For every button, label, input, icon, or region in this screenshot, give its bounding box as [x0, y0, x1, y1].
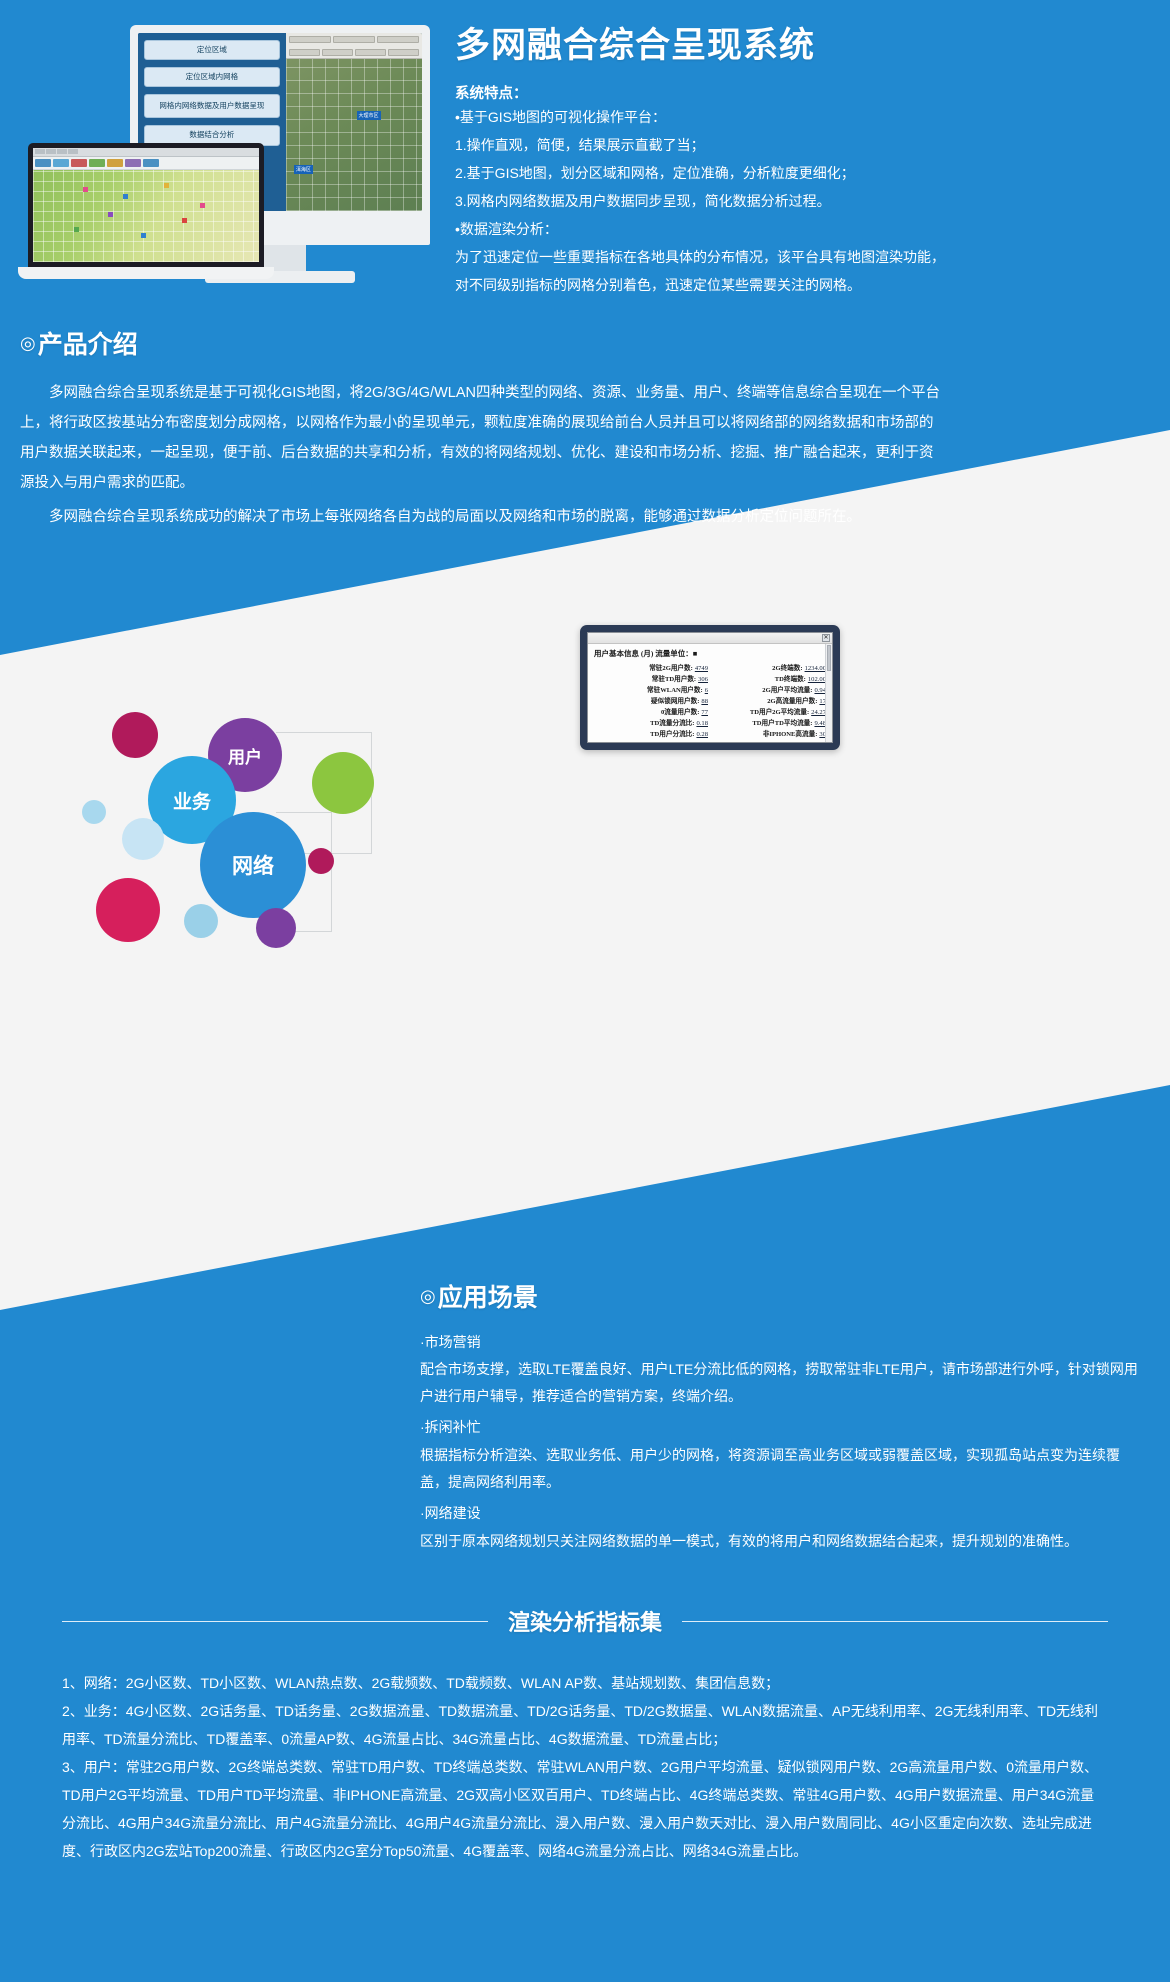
indicator-set-heading-row: 渲染分析指标集 — [0, 1605, 1170, 1637]
dialog-frame: ✕ 用户基本信息 (月) 流量单位：■ 常驻2G用户数:4749 2G终端数:1… — [587, 632, 833, 743]
metric-label: 常驻2G用户数: — [649, 662, 693, 672]
close-icon[interactable]: ✕ — [822, 634, 830, 642]
hero-text-block: 多网融合综合呈现系统 系统特点： •基于GIS地图的可视化操作平台： 1.操作直… — [455, 26, 1145, 298]
bubble-decor-lightblue — [122, 818, 164, 860]
product-intro-section: ◎产品介绍 多网融合综合呈现系统是基于可视化GIS地图，将2G/3G/4G/WL… — [20, 332, 940, 532]
toolbar-button-icon — [143, 159, 159, 167]
map-grid-marker — [182, 218, 187, 223]
metric-value[interactable]: 77 — [701, 709, 708, 716]
map-grid-marker — [123, 194, 128, 199]
metric-label: 非IPHONE高流量: — [763, 728, 818, 738]
hero-feature-line: 3.网格内网络数据及用户数据同步呈现，简化数据分析过程。 — [455, 189, 1145, 215]
metric-label: 常驻TD用户数: — [652, 673, 696, 683]
map-toolbar — [286, 33, 422, 59]
poster-page: 定位区域 定位区域内网格 网格内网络数据及用户数据呈现 数据结合分析 — [0, 0, 1170, 1982]
indicator-set-heading: 渲染分析指标集 — [508, 1605, 662, 1637]
flow-step-2: 网格内网络数据及用户数据呈现 — [144, 94, 280, 118]
metric-row: 常驻WLAN用户数:6 — [594, 684, 708, 694]
scenario-title: ·网络建设 — [420, 1500, 1140, 1527]
metric-label: 2G用户平均流量: — [762, 684, 812, 694]
laptop-map-canvas — [33, 170, 259, 262]
metric-row: TD用户分流比:0.28 — [594, 728, 708, 738]
metric-row: TD用户2G平均流量:24.27 — [712, 706, 826, 716]
toolbar-button-icon — [89, 159, 105, 167]
metric-label: TD流量分流比: — [650, 717, 694, 727]
menu-chip-icon — [35, 149, 45, 154]
gis-map-panel: 大理市区 洱海区 — [286, 33, 422, 211]
indicator-line: 2、业务：4G小区数、2G话务量、TD话务量、2G数据流量、TD数据流量、TD/… — [62, 1697, 1108, 1753]
dialog-metrics-grid: 常驻2G用户数:4749 2G终端数:1234.00 常驻TD用户数:306 T… — [594, 662, 826, 738]
dialog-header-label: 用户基本信息 (月) 流量单位：■ — [594, 648, 826, 659]
laptop-toolbar — [33, 157, 259, 170]
bubble-decor-purple — [256, 908, 296, 948]
laptop-base — [18, 267, 274, 279]
dialog-body: 用户基本信息 (月) 流量单位：■ 常驻2G用户数:4749 2G终端数:123… — [588, 644, 832, 740]
toolbar-button-icon — [53, 159, 69, 167]
laptop-menubar — [33, 148, 259, 157]
metric-label: 常驻WLAN用户数: — [647, 684, 703, 694]
scenario-text: 区别于原本网络规划只关注网络数据的单一模式，有效的将用户和网络数据结合起来，提升… — [420, 1528, 1140, 1555]
bubble-decor-magenta — [112, 712, 158, 758]
toolbar-button-icon — [35, 159, 51, 167]
metric-label: 2G终端数: — [772, 662, 802, 672]
hero-feature-line: 对不同级别指标的网格分别着色，迅速定位某些需要关注的网格。 — [455, 273, 1145, 299]
connector-line — [276, 812, 332, 813]
intro-paragraph: 多网融合综合呈现系统是基于可视化GIS地图，将2G/3G/4G/WLAN四种类型… — [20, 378, 940, 499]
metric-label: TD终端数: — [775, 673, 806, 683]
map-toolbar-row — [286, 46, 422, 59]
bubble-decor-maroon — [308, 848, 334, 874]
ring-icon: ◎ — [420, 1286, 436, 1306]
hero-subtitle: 系统特点： — [455, 82, 1145, 103]
divider-line-right — [682, 1621, 1108, 1622]
bubble-diagram: 用户 业务 网络 — [60, 690, 480, 1040]
page-title: 多网融合综合呈现系统 — [455, 26, 1145, 66]
laptop-app-window — [33, 148, 259, 262]
hero-feature-line: •基于GIS地图的可视化操作平台： — [455, 105, 1145, 131]
metric-value[interactable]: 0.18 — [696, 720, 708, 727]
metric-row: 非IPHONE高流量:30 — [712, 728, 826, 738]
metric-label: 0流量用户数: — [661, 706, 699, 716]
indicator-set-section: 渲染分析指标集 1、网络：2G小区数、TD小区数、WLAN热点数、2G载频数、T… — [0, 1605, 1170, 1865]
connector-line — [331, 812, 332, 932]
section-heading-label: 应用场景 — [438, 1284, 538, 1312]
bubble-decor-green — [312, 752, 374, 814]
metric-value[interactable]: 6 — [705, 687, 708, 694]
metric-label: TD用户TD平均流量: — [752, 717, 812, 727]
product-intro-body: 多网融合综合呈现系统是基于可视化GIS地图，将2G/3G/4G/WLAN四种类型… — [20, 378, 940, 533]
map-grid-marker — [141, 233, 146, 238]
toolbar-chip-icon — [355, 49, 386, 56]
metric-value[interactable]: 1234.00 — [805, 665, 826, 672]
laptop-screen — [28, 143, 264, 267]
hero-feature-line: 1.操作直观，简便，结果展示直截了当； — [455, 133, 1145, 159]
bubble-network: 网络 — [200, 812, 306, 918]
laptop-device — [28, 143, 264, 283]
metric-row: 常驻TD用户数:306 — [594, 673, 708, 683]
menu-chip-icon — [46, 149, 56, 154]
section-heading-product-intro: ◎产品介绍 — [20, 332, 940, 360]
metric-label: 疑似锁网用户数: — [651, 695, 699, 705]
flow-step-0: 定位区域 — [144, 40, 280, 60]
metric-row: TD用户TD平均流量:9.48 — [712, 717, 826, 727]
metric-row: TD流量分流比:0.18 — [594, 717, 708, 727]
indicator-line: 1、网络：2G小区数、TD小区数、WLAN热点数、2G载频数、TD载频数、WLA… — [62, 1669, 1108, 1697]
metric-value[interactable]: 0.28 — [696, 731, 708, 738]
section-heading-app-scenarios: ◎应用场景 — [420, 1285, 1140, 1313]
user-info-dialog[interactable]: ✕ 用户基本信息 (月) 流量单位：■ 常驻2G用户数:4749 2G终端数:1… — [580, 625, 840, 750]
connector-line — [276, 732, 372, 733]
map-label: 洱海区 — [294, 165, 313, 174]
toolbar-button-icon — [125, 159, 141, 167]
map-grid-marker — [74, 227, 79, 232]
metric-row: 2G用户平均流量:0.94 — [712, 684, 826, 694]
metric-row: TD终端数:102.00 — [712, 673, 826, 683]
intro-paragraph: 多网融合综合呈现系统成功的解决了市场上每张网络各自为战的局面以及网络和市场的脱离… — [20, 502, 940, 532]
toolbar-chip-icon — [289, 36, 331, 43]
metric-value[interactable]: 88 — [701, 698, 708, 705]
dialog-scrollbar[interactable] — [825, 644, 832, 742]
map-canvas: 大理市区 洱海区 — [286, 59, 422, 211]
metric-label: TD用户分流比: — [650, 728, 694, 738]
metric-value[interactable]: 4749 — [695, 665, 708, 672]
map-toolbar-row — [286, 33, 422, 46]
metric-row: 常驻2G用户数:4749 — [594, 662, 708, 672]
map-grid-marker — [200, 203, 205, 208]
header-section: 定位区域 定位区域内网格 网格内网络数据及用户数据呈现 数据结合分析 — [0, 0, 1170, 330]
metric-value[interactable]: 24.27 — [811, 709, 826, 716]
map-grid-marker — [83, 187, 88, 192]
bubble-label: 业务 — [173, 787, 211, 814]
toolbar-chip-icon — [322, 49, 353, 56]
map-label: 大理市区 — [357, 111, 381, 120]
menu-chip-icon — [57, 149, 67, 154]
bubble-decor-smallblue — [82, 800, 106, 824]
map-grid-marker — [164, 183, 169, 188]
scenario-text: 配合市场支撑，选取LTE覆盖良好、用户LTE分流比低的网格，捞取常驻非LTE用户… — [420, 1356, 1140, 1411]
toolbar-chip-icon — [377, 36, 419, 43]
bubble-decor-skyblue — [184, 904, 218, 938]
toolbar-chip-icon — [289, 49, 320, 56]
metric-row: 2G终端数:1234.00 — [712, 662, 826, 672]
toolbar-chip-icon — [333, 36, 375, 43]
scenario-title: ·拆闲补忙 — [420, 1414, 1140, 1441]
hero-device-illustration: 定位区域 定位区域内网格 网格内网络数据及用户数据呈现 数据结合分析 — [20, 25, 440, 320]
metric-row: 疑似锁网用户数:88 — [594, 695, 708, 705]
indicator-line: 3、用户：常驻2G用户数、2G终端总类数、常驻TD用户数、TD终端总类数、常驻W… — [62, 1753, 1108, 1865]
toolbar-button-icon — [71, 159, 87, 167]
metric-label: 2G高流量用户数: — [767, 695, 817, 705]
scrollbar-thumb[interactable] — [827, 645, 831, 671]
menu-chip-icon — [68, 149, 78, 154]
toolbar-chip-icon — [388, 49, 419, 56]
map-grid-marker — [108, 212, 113, 217]
bubble-label: 用户 — [228, 743, 262, 768]
metric-value[interactable]: 306 — [698, 676, 708, 683]
toolbar-button-icon — [107, 159, 123, 167]
scenario-text: 根据指标分析渲染、选取业务低、用户少的网格，将资源调至高业务区域或弱覆盖区域，实… — [420, 1442, 1140, 1497]
dialog-titlebar: ✕ — [588, 633, 832, 644]
hero-feature-line: •数据渲染分析： — [455, 217, 1145, 243]
application-scenarios-body: ·市场营销 配合市场支撑，选取LTE覆盖良好、用户LTE分流比低的网格，捞取常驻… — [420, 1329, 1140, 1555]
flow-step-1: 定位区域内网格 — [144, 67, 280, 87]
metric-value[interactable]: 102.00 — [808, 676, 826, 683]
application-scenarios-section: ◎应用场景 ·市场营销 配合市场支撑，选取LTE覆盖良好、用户LTE分流比低的网… — [420, 1285, 1140, 1555]
hero-feature-line: 2.基于GIS地图，划分区域和网格，定位准确，分析粒度更细化； — [455, 161, 1145, 187]
divider-line-left — [62, 1621, 488, 1622]
section-heading-label: 产品介绍 — [38, 331, 138, 359]
indicator-list: 1、网络：2G小区数、TD小区数、WLAN热点数、2G载频数、TD载频数、WLA… — [0, 1669, 1170, 1865]
metric-row: 2G高流量用户数:17 — [712, 695, 826, 705]
metric-row: 0流量用户数:77 — [594, 706, 708, 716]
scenario-title: ·市场营销 — [420, 1329, 1140, 1356]
hero-feature-line: 为了迅速定位一些重要指标在各地具体的分布情况，该平台具有地图渲染功能， — [455, 245, 1145, 271]
ring-icon: ◎ — [20, 333, 36, 353]
middle-section: 用户 业务 网络 ✕ — [0, 640, 1170, 1200]
metric-label: TD用户2G平均流量: — [750, 706, 809, 716]
bubble-decor-pink — [96, 878, 160, 942]
bubble-label: 网络 — [232, 850, 274, 880]
